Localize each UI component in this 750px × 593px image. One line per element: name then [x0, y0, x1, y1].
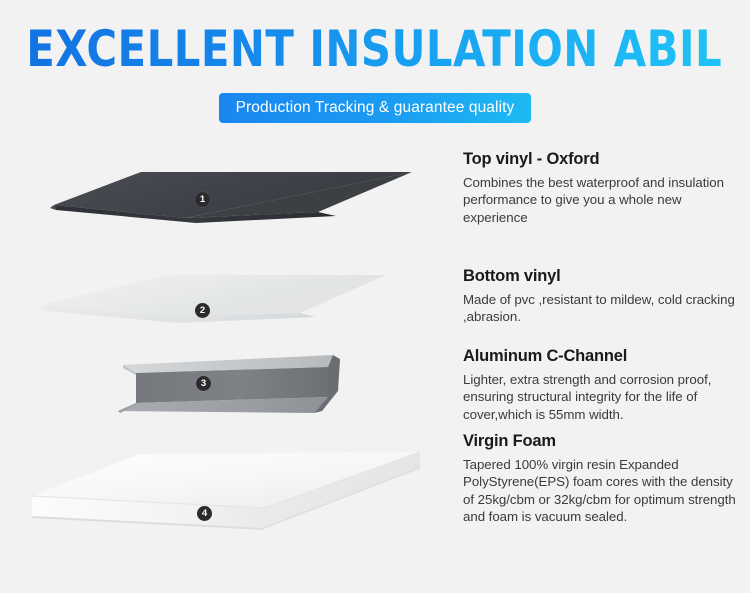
top-vinyl-svg — [18, 150, 438, 245]
layer-description: Tapered 100% virgin resin Expanded PolyS… — [463, 456, 743, 526]
layer-title: Top vinyl - Oxford — [463, 150, 743, 169]
layer-number-badge: 3 — [196, 376, 211, 391]
layer-text-virgin-foam: Virgin Foam Tapered 100% virgin resin Ex… — [463, 432, 743, 526]
channel-web-face — [136, 367, 328, 403]
layer-title: Virgin Foam — [463, 432, 743, 451]
layer-text-bottom-vinyl: Bottom vinyl Made of pvc ,resistant to m… — [463, 267, 743, 326]
layer-illustration-bottom-vinyl: 2 — [18, 267, 438, 342]
layer-title: Bottom vinyl — [463, 267, 743, 286]
layer-illustration-virgin-foam: 4 — [18, 432, 438, 562]
aluminum-channel-svg — [18, 347, 438, 427]
layer-description: Combines the best waterproof and insulat… — [463, 174, 743, 226]
layer-illustration-top-vinyl: 1 — [18, 150, 438, 245]
layer-number-badge: 4 — [197, 506, 212, 521]
layer-number-badge: 2 — [195, 303, 210, 318]
layer-number-badge: 1 — [195, 192, 210, 207]
production-tracking-banner: Production Tracking & guarantee quality — [219, 93, 532, 123]
bottom-vinyl-svg — [18, 267, 438, 342]
layer-title: Aluminum C-Channel — [463, 347, 743, 366]
page-title: EXCELLENT INSULATION ABILITY — [26, 22, 724, 76]
virgin-foam-svg — [18, 432, 438, 562]
infographic-page: EXCELLENT INSULATION ABILITY Production … — [0, 0, 750, 593]
banner-container: Production Tracking & guarantee quality — [0, 93, 750, 123]
layer-illustration-aluminum-channel: 3 — [18, 347, 438, 427]
layer-text-aluminum-channel: Aluminum C-Channel Lighter, extra streng… — [463, 347, 743, 423]
layer-text-top-vinyl: Top vinyl - Oxford Combines the best wat… — [463, 150, 743, 226]
layer-description: Lighter, extra strength and corrosion pr… — [463, 371, 743, 423]
layer-description: Made of pvc ,resistant to mildew, cold c… — [463, 291, 743, 326]
